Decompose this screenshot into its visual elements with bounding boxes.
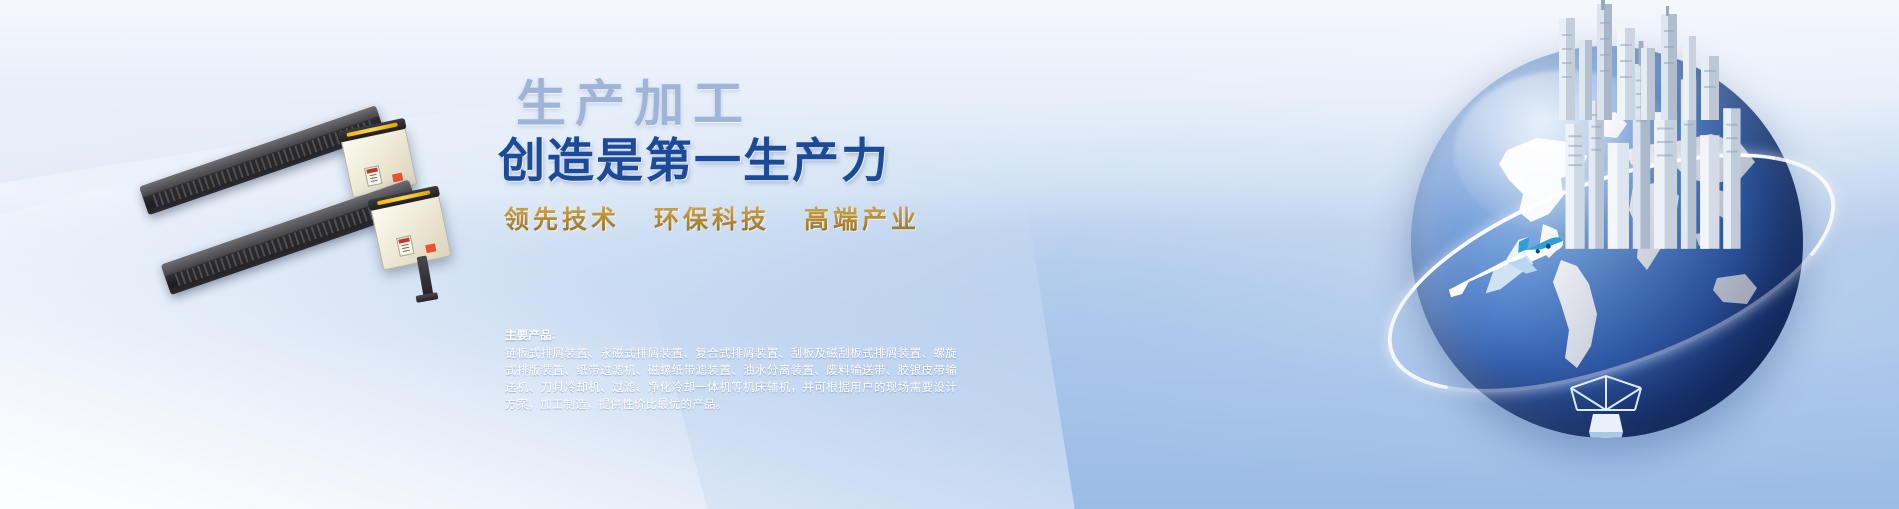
headline-secondary: 生产加工 — [516, 78, 958, 130]
tagline-row: 领先技术 环保科技 高端产业 — [504, 200, 958, 236]
banner-text-block: 生产加工 创造是第一生产力 领先技术 环保科技 高端产业 — [498, 78, 958, 236]
tagline-item-1: 环保科技 — [654, 200, 770, 236]
machine-warning-tag-front — [425, 243, 436, 253]
city-skyline-top-graphic — [1549, 0, 1749, 120]
conveyor-leg-front — [417, 255, 434, 296]
page-title: 创造是第一生产力 — [498, 136, 958, 186]
satellite-icon — [1531, 370, 1681, 438]
tagline-item-0: 领先技术 — [504, 200, 620, 236]
machine-label-tag-front — [396, 235, 415, 257]
tagline-item-2: 高端产业 — [804, 200, 920, 236]
chip-conveyor-machines — [150, 120, 490, 340]
conveyor-foot-pad-front — [416, 292, 439, 303]
chip-conveyor-machine-front — [170, 178, 480, 338]
product-description: 主要产品: 链板式排屑装置、永磁式排屑装置、复合式排屑装置、刮板及磁刮板式排屑装… — [505, 328, 957, 414]
conveyor-head-housing-front — [370, 193, 452, 270]
promo-banner: 生产加工 创造是第一生产力 领先技术 环保科技 高端产业 主要产品: 链板式排屑… — [0, 0, 1899, 509]
description-body: 链板式排屑装置、永磁式排屑装置、复合式排屑装置、刮板及磁刮板式排屑装置、螺旋式排… — [505, 346, 957, 414]
description-title: 主要产品: — [505, 328, 957, 345]
